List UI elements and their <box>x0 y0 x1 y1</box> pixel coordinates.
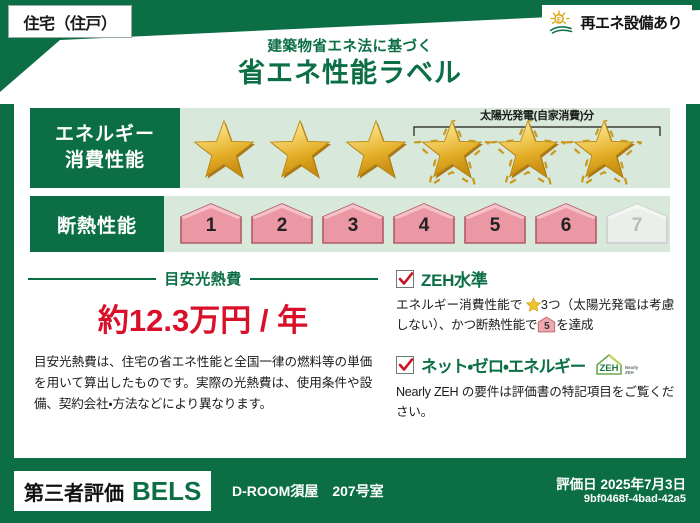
insulation-level-number: 7 <box>604 215 670 237</box>
zeh-body-part2: を達成 <box>556 318 593 332</box>
cost-heading: 目安光熱費 <box>28 268 378 289</box>
criteria-item-zeh-standard: ZEH水準 エネルギー消費性能で 3つ（太陽光発電は考慮しない）、かつ断熱性能で… <box>396 266 674 336</box>
inline-star-icon <box>526 297 541 312</box>
net-zero-checkbox[interactable] <box>396 356 414 374</box>
star-3 <box>338 117 414 189</box>
insulation-level-number: 3 <box>320 215 386 237</box>
svg-text:E: E <box>557 18 561 24</box>
zeh-nearly-logo-icon: ZEH Nearly ZEH <box>592 352 646 378</box>
zeh-standard-body: エネルギー消費性能で 3つ（太陽光発電は考慮しない）、かつ断熱性能で 5 を達成 <box>396 295 674 336</box>
solar-star-outline <box>566 120 642 192</box>
star-4 <box>414 117 490 189</box>
insulation-level-2: 2 <box>249 202 315 246</box>
insulation-level-number: 1 <box>178 215 244 237</box>
renewable-badge-label: 再エネ設備あり <box>580 12 682 33</box>
star-2 <box>262 117 338 189</box>
inline-house-level-icon: 5 <box>537 316 556 333</box>
cost-rule-right <box>250 278 378 280</box>
renewable-equipment-badge: E 再エネ設備あり <box>542 5 692 39</box>
solar-star-outline <box>490 120 566 192</box>
evaluation-date: 評価日 2025年7月3日 <box>556 473 686 493</box>
insulation-performance-row: 断熱性能 1234567 <box>30 196 670 252</box>
star-rating <box>186 117 642 189</box>
star-icon <box>341 120 411 186</box>
bels-en-label: BELS <box>132 476 201 507</box>
insulation-level-number: 4 <box>391 215 457 237</box>
insulation-performance-label: 断熱性能 <box>30 196 164 252</box>
bels-energy-label: 住宅（住戸） E 再エネ設備あり 建築物省エネ法に基づく 省エネ性能ラベル <box>0 0 700 523</box>
cost-heading-label: 目安光熱費 <box>164 268 242 289</box>
solar-star-outline <box>414 120 490 192</box>
star-icon <box>189 120 259 186</box>
sun-solar-icon: E <box>548 10 574 34</box>
insulation-level-track: 1234567 <box>164 196 670 252</box>
net-zero-title: ネット・ゼロ・エネルギー <box>421 353 585 377</box>
bels-jp-label: 第三者評価 <box>24 477 124 506</box>
bels-certification-box: 第三者評価 BELS <box>14 471 211 511</box>
label-footer: 第三者評価 BELS D-ROOM須屋 207号室 評価日 2025年7月3日 … <box>0 461 700 523</box>
label-body-card: エネルギー 消費性能 太陽光発電(自家消費)分 断熱性能 1234567 目安光… <box>14 96 686 458</box>
star-icon <box>265 120 335 186</box>
insulation-label-text: 断熱性能 <box>57 211 137 238</box>
document-type-chip: 住宅（住戸） <box>8 5 132 38</box>
insulation-level-number: 5 <box>462 215 528 237</box>
star-6 <box>566 117 642 189</box>
insulation-level-number: 2 <box>249 215 315 237</box>
estimated-utility-cost-block: 目安光熱費 約12.3万円 / 年 目安光熱費は、住宅の省エネ性能と全国一律の燃… <box>28 268 378 414</box>
inline-house-number: 5 <box>537 319 556 335</box>
energy-label-line2: 消費性能 <box>65 148 145 174</box>
label-title: 建築物省エネ法に基づく 省エネ性能ラベル <box>0 40 700 91</box>
title-subtitle: 建築物省エネ法に基づく <box>0 40 700 56</box>
energy-performance-label: エネルギー 消費性能 <box>30 108 180 188</box>
insulation-level-number: 6 <box>533 215 599 237</box>
zeh-standard-title: ZEH水準 <box>421 266 488 291</box>
insulation-level-1: 1 <box>178 202 244 246</box>
evaluation-id: 9bf0468f-4bad-42a5 <box>584 493 686 505</box>
insulation-level-6: 6 <box>533 202 599 246</box>
insulation-level-7: 7 <box>604 202 670 246</box>
svg-text:ZEH: ZEH <box>600 363 619 374</box>
criteria-list: ZEH水準 エネルギー消費性能で 3つ（太陽光発電は考慮しない）、かつ断熱性能で… <box>396 266 674 423</box>
zeh-body-part1: エネルギー消費性能で <box>396 298 522 312</box>
energy-performance-row: エネルギー 消費性能 太陽光発電(自家消費)分 <box>30 108 670 188</box>
insulation-level-4: 4 <box>391 202 457 246</box>
check-icon <box>398 271 414 287</box>
net-zero-body: Nearly ZEH の要件は評価書の特記項目をご覧ください。 <box>396 382 674 423</box>
check-icon <box>398 357 414 373</box>
insulation-level-5: 5 <box>462 202 528 246</box>
svg-text:ZEH: ZEH <box>625 370 634 375</box>
insulation-level-3: 3 <box>320 202 386 246</box>
energy-star-track: 太陽光発電(自家消費)分 <box>180 108 670 188</box>
title-main: 省エネ性能ラベル <box>0 57 700 91</box>
star-5 <box>490 117 566 189</box>
property-unit-name: D-ROOM須屋 207号室 <box>232 481 384 501</box>
star-1 <box>186 117 262 189</box>
document-type-label: 住宅（住戸） <box>23 10 116 34</box>
cost-disclaimer-note: 目安光熱費は、住宅の省エネ性能と全国一律の燃料等の単価を用いて算出したものです。… <box>28 352 378 414</box>
criteria-item-net-zero-energy: ネット・ゼロ・エネルギー ZEH Nearly ZEH Nearly ZEH の… <box>396 352 674 423</box>
zeh-standard-header: ZEH水準 <box>396 266 674 291</box>
zeh-standard-checkbox[interactable] <box>396 270 414 288</box>
cost-rule-left <box>28 278 156 280</box>
net-zero-header: ネット・ゼロ・エネルギー ZEH Nearly ZEH <box>396 352 674 378</box>
cost-value: 約12.3万円 / 年 <box>28 295 378 340</box>
energy-label-line1: エネルギー <box>55 122 155 148</box>
